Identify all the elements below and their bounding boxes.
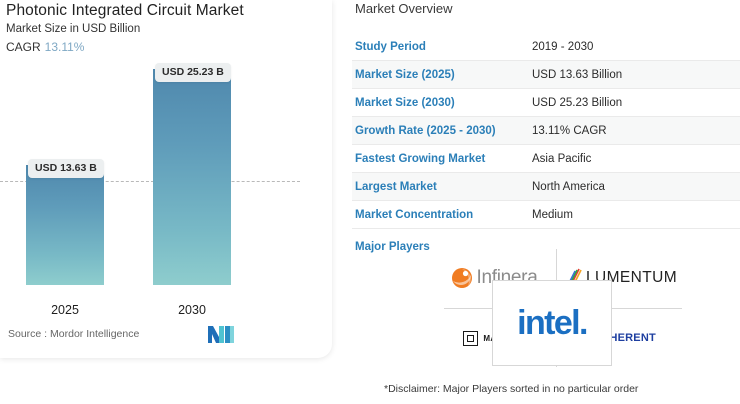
row-key: Fastest Growing Market [352, 153, 532, 165]
table-row: Largest Market North America [352, 173, 740, 201]
mordor-intelligence-logo-icon [208, 326, 234, 343]
market-overview-table: Study Period 2019 - 2030 Market Size (20… [352, 33, 740, 229]
row-key: Market Size (2030) [352, 97, 532, 109]
row-value: 13.11% CAGR [532, 125, 607, 137]
table-row: Market Size (2030) USD 25.23 Billion [352, 89, 740, 117]
bar-2030 [153, 69, 231, 285]
row-key: Largest Market [352, 181, 532, 193]
table-row: Study Period 2019 - 2030 [352, 33, 740, 61]
chart-card: Photonic Integrated Circuit Market Marke… [0, 0, 332, 358]
table-row: Fastest Growing Market Asia Pacific [352, 145, 740, 173]
data-label-2030: USD 25.23 B [155, 63, 231, 82]
major-players-logo-grid: Infinera LUMENTUM [430, 249, 682, 367]
marvell-mark-icon [463, 331, 478, 346]
row-key: Market Concentration [352, 209, 532, 221]
cagr-line: CAGR13.11% [6, 40, 84, 54]
disclaimer-text: *Disclaimer: Major Players sorted in no … [384, 383, 638, 395]
row-value: USD 25.23 Billion [532, 97, 622, 109]
overview-title: Market Overview [355, 1, 453, 16]
row-key: Study Period [352, 41, 532, 53]
row-value: USD 13.63 Billion [532, 69, 622, 81]
bar-chart-plot: USD 13.63 B USD 25.23 B 2025 2030 [0, 55, 332, 303]
x-axis-tick-2025: 2025 [26, 303, 104, 317]
row-value: Asia Pacific [532, 153, 591, 165]
bar-2025 [26, 165, 104, 285]
row-key: Growth Rate (2025 - 2030) [352, 125, 532, 137]
cagr-value: 13.11% [45, 40, 85, 54]
table-row: Market Concentration Medium [352, 201, 740, 229]
player-cell-intel: intel. [492, 280, 612, 366]
row-value: North America [532, 181, 605, 193]
page-title: Photonic Integrated Circuit Market [6, 2, 244, 20]
row-value: Medium [532, 209, 573, 221]
market-overview-panel: Market Overview Study Period 2019 - 2030… [352, 0, 740, 404]
row-value: 2019 - 2030 [532, 41, 593, 53]
intel-wordmark: intel. [517, 304, 587, 343]
major-players-label: Major Players [355, 241, 430, 253]
cagr-label: CAGR [6, 40, 41, 54]
chart-subtitle: Market Size in USD Billion [6, 23, 140, 35]
source-label: Source : Mordor Intelligence [8, 328, 139, 340]
infinera-mark-icon [451, 267, 473, 289]
x-axis-tick-2030: 2030 [153, 303, 231, 317]
data-label-2025: USD 13.63 B [28, 159, 104, 178]
row-key: Market Size (2025) [352, 69, 532, 81]
table-row: Market Size (2025) USD 13.63 Billion [352, 61, 740, 89]
table-row: Growth Rate (2025 - 2030) 13.11% CAGR [352, 117, 740, 145]
market-overview-infographic: Photonic Integrated Circuit Market Marke… [0, 0, 740, 404]
